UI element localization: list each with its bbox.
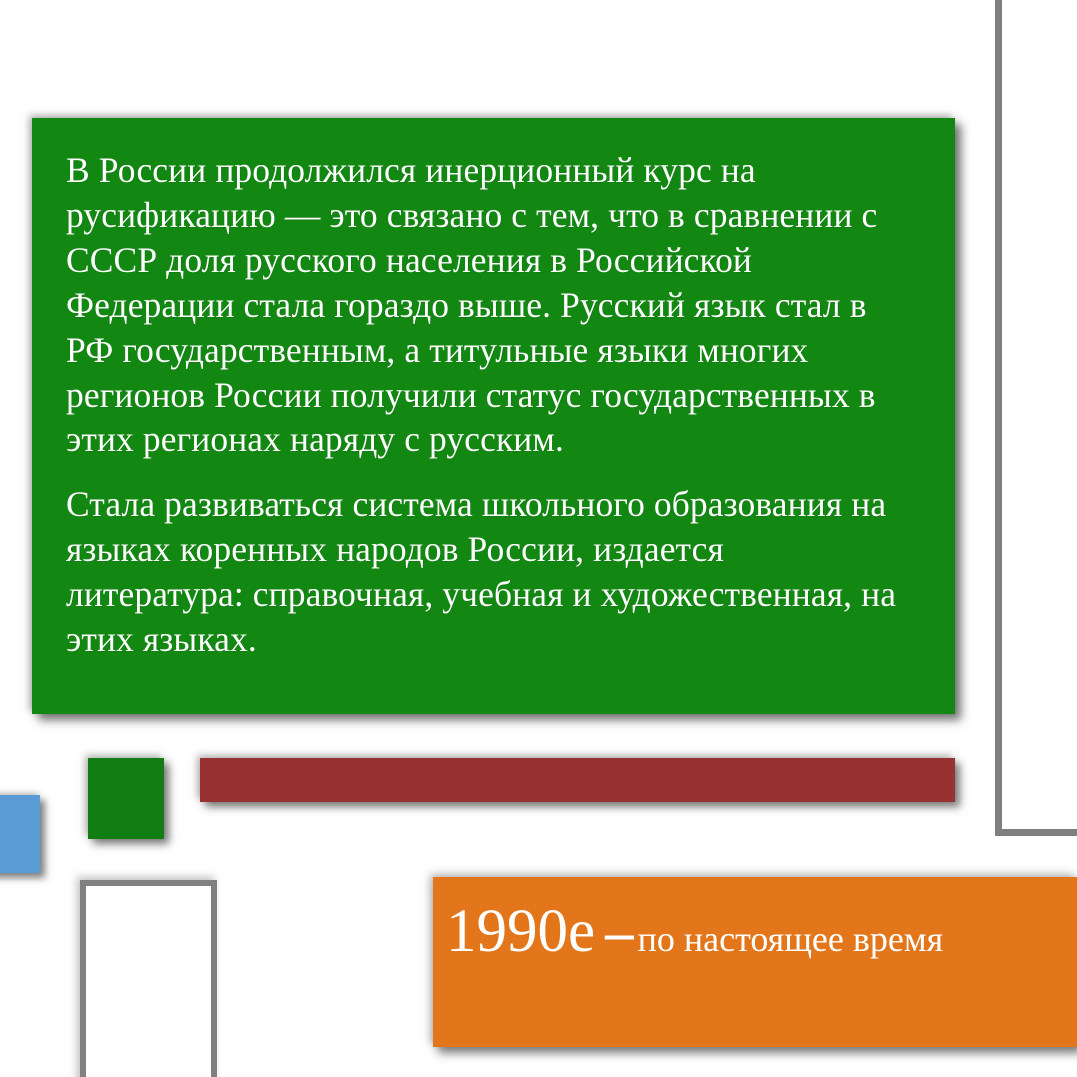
period-era-label: 1990е [446, 898, 595, 965]
period-banner: 1990е–по настоящее время [433, 877, 1077, 1047]
blue-square-accent [0, 795, 40, 873]
presentation-slide: В России продолжился инерционный курс на… [0, 0, 1077, 1077]
period-tail-label: по настоящее время [638, 919, 944, 959]
content-panel: В России продолжился инерционный курс на… [32, 118, 955, 714]
content-paragraph-1: В России продолжился инерционный курс на… [66, 148, 903, 462]
period-separator: – [595, 901, 638, 964]
green-square-accent [88, 758, 164, 839]
red-bar-accent [200, 758, 955, 802]
content-paragraph-2: Стала развиваться система школьного обра… [66, 482, 903, 662]
white-outlined-card [80, 880, 217, 1077]
right-open-frame-decoration [995, 0, 1077, 836]
